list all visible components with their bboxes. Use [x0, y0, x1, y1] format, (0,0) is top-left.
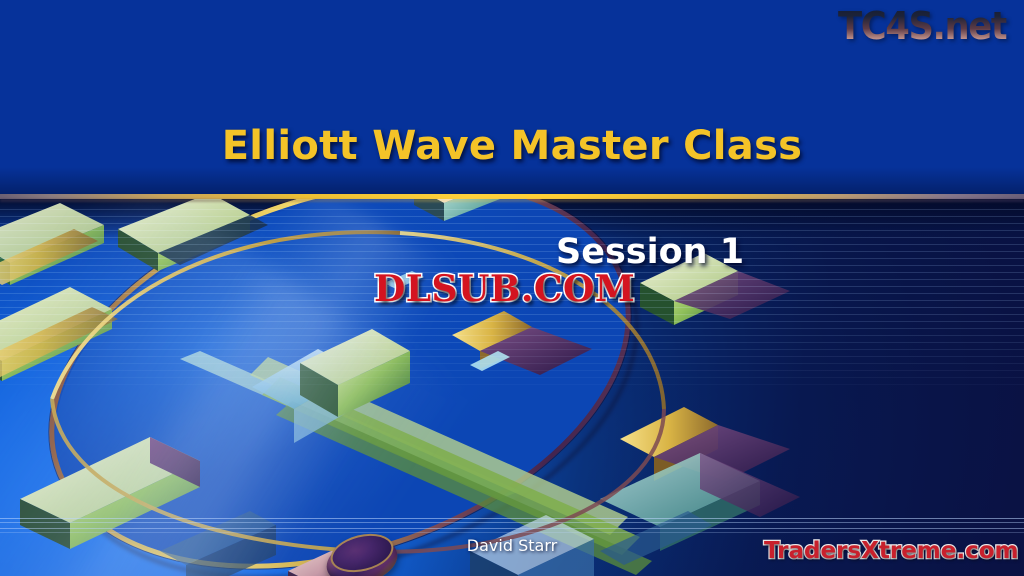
dlsub-watermark: DLSUB.COM [374, 268, 635, 310]
horizontal-accent-lines [0, 517, 1024, 535]
slide-artwork-region [0, 199, 1024, 576]
session-label: Session 1 [556, 232, 744, 272]
presentation-slide: Elliott Wave Master Class Session 1 Davi… [0, 0, 1024, 576]
tc4s-watermark: TC4S.net [838, 4, 1006, 48]
slide-title: Elliott Wave Master Class [0, 123, 1024, 169]
gold-divider-glow [0, 199, 1024, 202]
tradersxtreme-watermark: TradersXtreme.com [764, 538, 1019, 564]
